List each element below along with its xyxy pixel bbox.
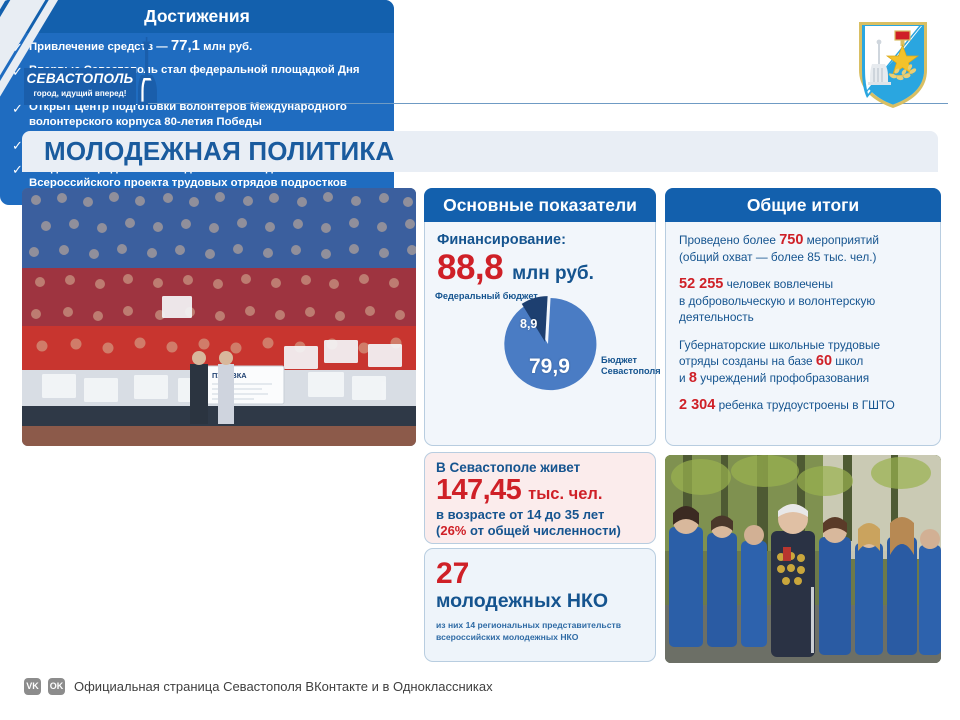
page-title-band: МОЛОДЕЖНАЯ ПОЛИТИКА — [22, 131, 938, 172]
result-item-employed: 2 304 ребенка трудоустроены в ГШТО — [679, 397, 927, 414]
general-results-body: Проведено более 750 мероприятий (общий о… — [666, 222, 940, 414]
population-value: 147,45 — [436, 475, 521, 505]
population-intro: В Севастополе живет — [436, 460, 655, 475]
population-share: (26% от общей численности) — [436, 523, 655, 538]
funds-raised-value: 77,1 — [171, 37, 200, 54]
nko-note: из них 14 региональных представительств … — [436, 620, 655, 643]
slide-root: СЕВАСТОПОЛЬ город, идущий вперед! — [0, 0, 960, 720]
financing-amount: 88,8 — [437, 250, 503, 285]
population-unit: тыс. чел. — [528, 485, 602, 504]
pie-legend-sevastopol: Бюджет Севастополя — [601, 355, 661, 377]
general-results-header: Общие итоги — [665, 188, 941, 222]
population-age-range: в возрасте от 14 до 35 лет — [436, 507, 655, 522]
crowd-image: ПУТЁВКА — [22, 188, 416, 446]
logo-tagline: город, идущий вперед! — [24, 88, 136, 99]
logo-title: СЕВАСТОПОЛЬ — [24, 68, 136, 88]
odnoklassniki-icon[interactable]: OK — [48, 678, 65, 695]
pie-value-federal: 8,9 — [520, 317, 537, 331]
schools-count: 60 — [816, 353, 832, 369]
financing-unit: млн руб. — [512, 263, 594, 285]
result-item-volunteers: 52 255 человек вовлечены в добровольческ… — [679, 276, 927, 326]
footer-text: Официальная страница Севастополя ВКонтак… — [74, 679, 493, 694]
logo-badge: СЕВАСТОПОЛЬ город, идущий вперед! — [24, 68, 136, 105]
population-share-percent: 26% — [440, 523, 466, 538]
vk-icon[interactable]: VK — [24, 678, 41, 695]
population-value-row: 147,45 тыс. чел. — [436, 475, 655, 505]
photo-youth-crowd: ПУТЁВКА — [22, 188, 416, 446]
footer-bar: VK OK Официальная страница Севастополя В… — [0, 672, 960, 700]
page-title: МОЛОДЕЖНАЯ ПОЛИТИКА — [22, 131, 938, 172]
events-count: 750 — [779, 232, 803, 248]
colleges-count: 8 — [689, 370, 697, 386]
park-image — [665, 455, 941, 663]
result-item-events: Проведено более 750 мероприятий (общий о… — [679, 232, 927, 265]
main-indicators-header: Основные показатели — [424, 188, 656, 222]
achievements-header: Достижения — [0, 0, 394, 33]
coat-of-arms-icon — [855, 18, 931, 110]
photo-veteran-youth — [665, 455, 941, 663]
financing-label: Финансирование: — [437, 232, 655, 248]
general-results-card: Общие итоги Проведено более 750 мероприя… — [665, 188, 941, 446]
volunteers-count: 52 255 — [679, 276, 723, 292]
pie-value-sevastopol: 79,9 — [529, 355, 570, 379]
header-divider — [148, 103, 948, 104]
nko-card: 27 молодежных НКО из них 14 региональных… — [424, 548, 656, 662]
population-card: В Севастополе живет 147,45 тыс. чел. в в… — [424, 452, 656, 544]
nko-label: молодежных НКО — [436, 590, 655, 613]
result-item-labor-squads: Губернаторские школьные трудовые отряды … — [679, 337, 927, 387]
employed-count: 2 304 — [679, 397, 715, 413]
financing-amount-row: 88,8 млн руб. — [437, 250, 655, 285]
budget-pie-chart: Федеральный бюджет Бюджет Севастополя 8,… — [425, 289, 655, 407]
main-indicators-card: Основные показатели Финансирование: 88,8… — [424, 188, 656, 446]
nko-count: 27 — [436, 559, 655, 589]
sevastopol-logo: СЕВАСТОПОЛЬ город, идущий вперед! — [24, 35, 172, 107]
